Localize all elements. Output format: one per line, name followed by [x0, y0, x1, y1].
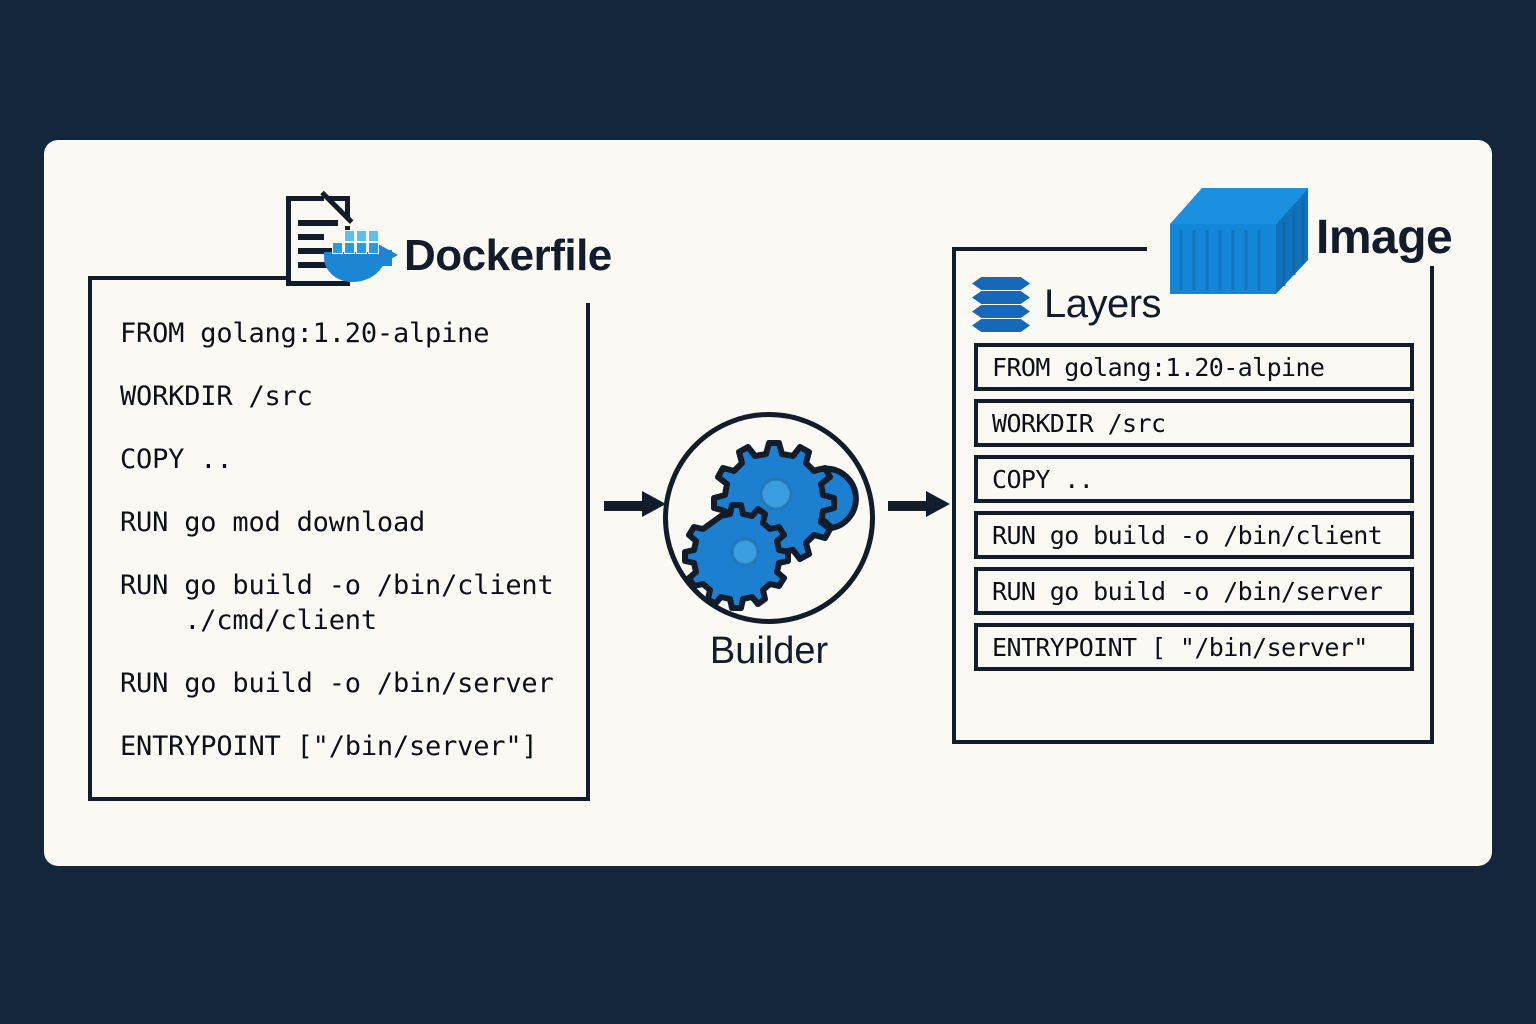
dockerfile-icon: [278, 196, 402, 294]
layer-list: FROM golang:1.20-alpine WORKDIR /src COP…: [974, 343, 1414, 679]
layer-row: FROM golang:1.20-alpine: [974, 343, 1414, 391]
layers-label: Layers: [1044, 282, 1161, 327]
dockerfile-line: COPY ..: [120, 446, 590, 473]
dockerfile-frame-top: [88, 276, 294, 280]
layer-text: RUN go build -o /bin/server: [992, 577, 1382, 606]
image-frame-bottom: [952, 740, 1434, 744]
layer-text: FROM golang:1.20-alpine: [992, 353, 1324, 382]
layers-header: Layers: [972, 277, 1161, 331]
image-frame-left: [952, 247, 956, 744]
layer-row: RUN go build -o /bin/server: [974, 567, 1414, 615]
arrow-dockerfile-to-builder: [604, 497, 664, 511]
dockerfile-line: WORKDIR /src: [120, 383, 590, 410]
dockerfile-panel: FROM golang:1.20-alpine WORKDIR /src COP…: [88, 276, 590, 801]
layers-stack-icon: [972, 277, 1030, 331]
dockerfile-line: RUN go mod download: [120, 509, 590, 536]
dockerfile-line: RUN go build -o /bin/server: [120, 670, 590, 697]
dockerfile-header: Dockerfile: [278, 196, 612, 294]
dockerfile-line: RUN go build -o /bin/client: [120, 572, 590, 599]
dockerfile-frame-bottom: [88, 797, 590, 801]
image-frame-top: [952, 247, 1147, 251]
builder-node: [663, 412, 875, 624]
dockerfile-code-block: FROM golang:1.20-alpine WORKDIR /src COP…: [120, 320, 590, 760]
layer-row: ENTRYPOINT [ "/bin/server": [974, 623, 1414, 671]
image-frame-right: [1430, 266, 1434, 744]
layer-text: WORKDIR /src: [992, 409, 1165, 438]
image-label: Image: [1316, 210, 1452, 265]
image-panel: Layers FROM golang:1.20-alpine WORKDIR /…: [952, 247, 1434, 744]
dockerfile-line-continuation: ./cmd/client: [120, 607, 590, 634]
diagram-canvas: FROM golang:1.20-alpine WORKDIR /src COP…: [0, 0, 1536, 1024]
layer-row: RUN go build -o /bin/client: [974, 511, 1414, 559]
builder-label: Builder: [663, 630, 875, 673]
layer-text: ENTRYPOINT [ "/bin/server": [992, 633, 1368, 662]
layer-row: COPY ..: [974, 455, 1414, 503]
dockerfile-label: Dockerfile: [404, 234, 612, 278]
gears-wrench-icon: [663, 412, 875, 624]
layer-row: WORKDIR /src: [974, 399, 1414, 447]
dockerfile-line: FROM golang:1.20-alpine: [120, 320, 590, 347]
layer-text: COPY ..: [992, 465, 1093, 494]
container-cube-icon: [1168, 186, 1310, 298]
layer-text: RUN go build -o /bin/client: [992, 521, 1382, 550]
document-rule: [298, 220, 338, 226]
dockerfile-line: ENTRYPOINT ["/bin/server"]: [120, 733, 590, 760]
document-rule: [298, 234, 324, 240]
docker-whale-icon: [324, 230, 404, 290]
dockerfile-frame-left: [88, 276, 92, 801]
arrow-builder-to-image: [888, 497, 948, 511]
